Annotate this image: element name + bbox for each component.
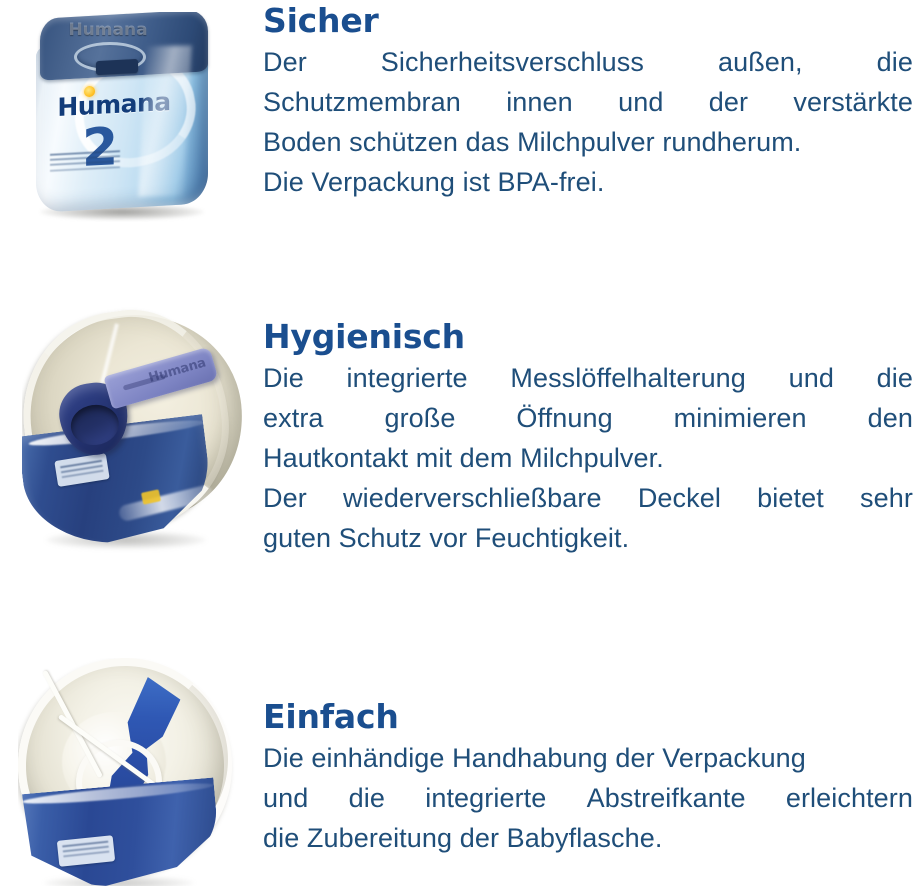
feature-section-einfach: Einfach Die einhändige Handhabung der Ve… [0,650,923,880]
word: Sicherheitsverschluss [381,42,644,82]
feature-image-column: Humana [0,300,255,660]
word: Messlöffelhalterung [510,358,746,398]
word: die [877,42,913,82]
feature-image-column: Humana 2 Humana [0,0,255,300]
word: wiederverschließbare [343,478,602,518]
feature-heading: Sicher [263,2,913,40]
word: integrierte [347,358,468,398]
feature-paragraph: Die Verpackung ist BPA-frei. [263,162,913,202]
word: innen [506,82,573,122]
word: den [868,398,913,438]
text-line: und die integrierte Abstreifkante erleic… [263,778,913,818]
feature-text-column: Einfach Die einhändige Handhabung der Ve… [263,698,913,858]
feature-paragraph: Der Sicherheitsverschluss außen, die Sch… [263,42,913,162]
word: minimieren [674,398,807,438]
tin-lid-safety-tab [96,59,138,75]
feature-heading: Einfach [263,698,913,736]
feature-paragraph: Die integrierte Messlöffelhalterung und … [263,358,913,478]
feature-text-column: Hygienisch Die integrierte Messlöffelhal… [263,318,913,558]
word: und [263,778,308,818]
text-line: Hautkontakt mit dem Milchpulver. [263,438,913,478]
text-line: Die integrierte Messlöffelhalterung und … [263,358,913,398]
text-line: guten Schutz vor Feuchtigkeit. [263,518,913,558]
feature-section-sicher: Humana 2 Humana Sicher Der Sicherheitsve… [0,0,923,300]
word: erleichtern [786,778,913,818]
word: der [709,82,748,122]
word: Öffnung [516,398,612,438]
text-line: Die einhändige Handhabung der Verpackung [263,738,913,778]
text-line: Boden schützen das Milchpulver rundherum… [263,122,913,162]
text-line: extra große Öffnung minimieren den [263,398,913,438]
feature-section-hygienisch: Humana Hygienisch Die integrierte Messlö… [0,300,923,660]
product-feature-page: Humana 2 Humana Sicher Der Sicherheitsve… [0,0,923,880]
word: und [618,82,663,122]
word: integrierte [425,778,546,818]
word: Die [263,358,304,398]
feature-heading: Hygienisch [263,318,913,356]
tin-lid-emboss-text: Humana [52,20,164,40]
feature-paragraph: Der wiederverschließbare Deckel bietet s… [263,478,913,558]
humana-tin-opening-scoop-holder-image [18,658,238,886]
feature-text-column: Sicher Der Sicherheitsverschluss außen, … [263,2,913,202]
word: Deckel [638,478,721,518]
text-line: Schutzmembran innen und der verstärkte [263,82,913,122]
word: die [349,778,385,818]
tin-gloss-highlight [138,45,192,196]
word: Schutzmembran [263,82,461,122]
word: große [384,398,455,438]
text-line: Der Sicherheitsverschluss außen, die [263,42,913,82]
text-line: Der wiederverschließbare Deckel bietet s… [263,478,913,518]
tin-small-print [50,150,120,180]
word: außen, [718,42,803,82]
word: die [877,358,913,398]
scoop-bowl-interior [68,402,121,448]
word: sehr [860,478,913,518]
text-line: Die Verpackung ist BPA-frei. [263,162,913,202]
humana-tin-open-with-scoop-image: Humana [22,305,247,555]
humana-tin-closed-image: Humana 2 Humana [22,12,222,222]
word: Der [263,478,307,518]
feature-paragraph: Die einhändige Handhabung der Verpackung… [263,738,913,858]
word: verstärkte [793,82,913,122]
word: bietet [757,478,824,518]
word: Der [263,42,307,82]
word: und [789,358,834,398]
word: extra [263,398,324,438]
word: Abstreifkante [587,778,746,818]
feature-image-column [0,650,255,880]
text-line: die Zubereitung der Babyflasche. [263,818,913,858]
